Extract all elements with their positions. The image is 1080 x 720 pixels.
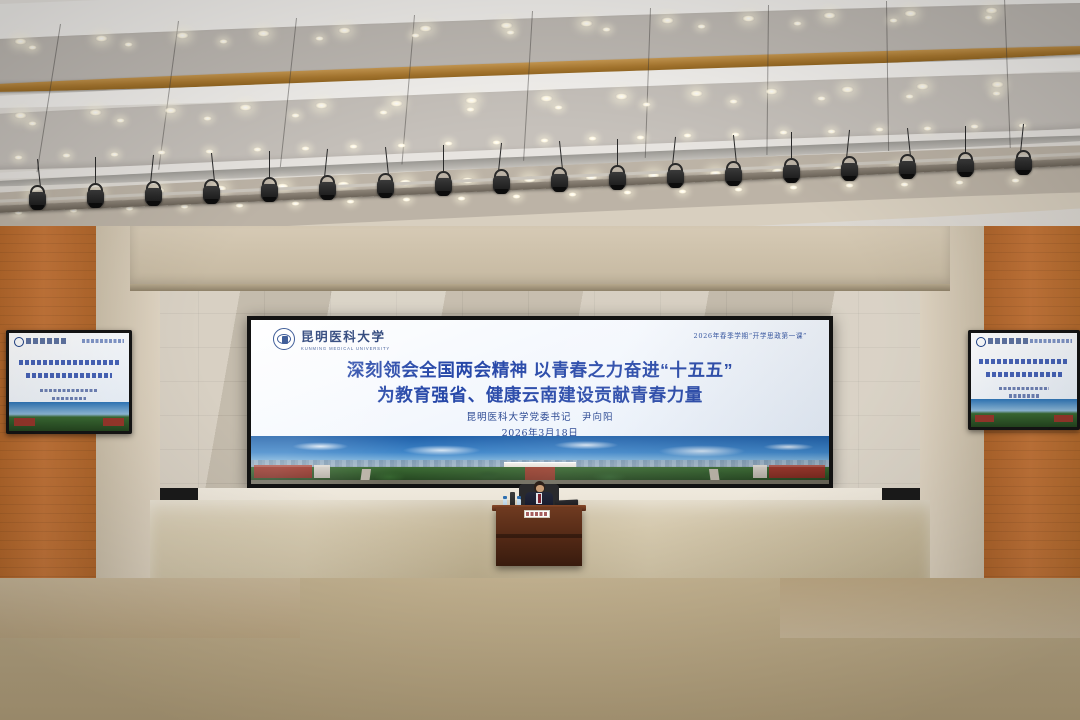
stage-spotlight [86, 183, 105, 209]
university-name-text [988, 338, 1028, 344]
ceiling-downlight [568, 192, 577, 197]
ceiling-downlight [900, 182, 909, 187]
ceiling-downlight [124, 42, 133, 47]
ceiling-downlight [827, 129, 836, 134]
stage-spotlight [318, 175, 337, 201]
stage-spotlight [782, 158, 801, 184]
university-logo: 昆明医科大学 KUNMING MEDICAL UNIVERSITY [273, 326, 390, 351]
spotlight-lens [147, 201, 160, 206]
title-line-1-text [19, 360, 120, 365]
slide-corner-label: 2026年春季学期“开学思政第一课” [694, 330, 807, 340]
university-name-en: KUNMING MEDICAL UNIVERSITY [301, 346, 390, 351]
ceiling-downlight [540, 138, 549, 143]
campus-building-right [769, 465, 825, 478]
speaker-face [536, 485, 544, 492]
corner-label-text [1030, 339, 1072, 343]
side-monitor-right[interactable] [968, 330, 1080, 430]
side-monitor-left-content [9, 333, 129, 431]
stage-spotlight [898, 154, 917, 180]
ceiling-downlight [379, 110, 388, 115]
slide-title-line-2: 为教育强省、健康云南建设贡献青春力量 [251, 383, 829, 408]
campus-panorama [971, 399, 1077, 427]
proscenium-lip [130, 284, 950, 291]
title-line-2-text [986, 372, 1062, 377]
ceiling-downlight [602, 27, 611, 32]
ceiling-downlight [14, 38, 27, 45]
ceiling-downlight [164, 107, 177, 114]
campus-building-left-2 [314, 465, 330, 478]
spotlight-cable [269, 151, 270, 179]
campus-building [975, 415, 994, 422]
ceiling-downlight [419, 25, 432, 32]
ceiling-downlight [554, 105, 563, 110]
ceiling-downlight [411, 33, 420, 38]
spotlight-lens [89, 203, 102, 208]
ceiling-downlight [291, 201, 300, 206]
stage-spotlight [202, 179, 221, 205]
ceiling-downlight [14, 112, 27, 119]
stage-spotlight [956, 152, 975, 178]
ceiling-downlight [841, 86, 854, 93]
lecture-table-trim [496, 534, 582, 538]
ceiling-downlight [203, 116, 212, 121]
spotlight-lens [321, 195, 334, 200]
stage-spotlight [724, 161, 743, 187]
stage-spotlight [666, 163, 685, 189]
ceiling-downlight [110, 152, 119, 157]
auditorium-photo: 昆明医科大学 KUNMING MEDICAL UNIVERSITY 2026年春… [0, 0, 1080, 720]
side-monitor-right-content [971, 333, 1077, 427]
speaker-nameplate-text [526, 512, 548, 516]
spotlight-lens [611, 185, 624, 190]
stage-spotlight [492, 169, 511, 195]
university-crest-icon [976, 337, 986, 347]
spotlight-cable [617, 139, 618, 167]
ceiling-downlight [257, 30, 270, 37]
spotlight-lens [31, 205, 44, 210]
side-monitor-left[interactable] [6, 330, 132, 434]
campus-building-right-2 [753, 465, 767, 478]
ceiling-downlight [905, 94, 914, 99]
slide-title: 深刻领会全国两会精神 以青春之力奋进“十五五” 为教育强省、健康云南建设贡献青春… [251, 358, 829, 409]
ceiling-downlight [349, 144, 358, 149]
ceiling-downlight [315, 36, 324, 41]
ceiling-downlight [734, 187, 743, 192]
stage-spotlight [1014, 150, 1033, 176]
spotlight-lens [553, 187, 566, 192]
university-crest-icon [273, 328, 295, 350]
spotlight-lens [727, 181, 740, 186]
date-line-text [52, 397, 86, 401]
ceiling-downlight [916, 83, 929, 90]
ceiling-downlight [540, 95, 553, 102]
spotlight-lens [785, 178, 798, 183]
spotlight-lens [843, 176, 856, 181]
campus-building-left [254, 465, 312, 478]
spotlight-lens [1017, 170, 1030, 175]
ceiling-downlight [742, 15, 755, 22]
campus-building [103, 418, 125, 426]
ceiling-downlight [95, 35, 108, 42]
ceiling-downlight [291, 113, 300, 118]
ceiling-downlight [991, 81, 1004, 88]
ceiling-downlight [992, 91, 1001, 96]
speaker-line-text [40, 389, 98, 393]
ceiling-downlight [205, 149, 214, 154]
campus-building [1054, 415, 1073, 422]
ceiling-downlight [985, 7, 998, 14]
stage-spotlight [144, 181, 163, 207]
ceiling-downlight [315, 102, 328, 109]
date-line-text [1009, 394, 1039, 398]
university-name-cn: 昆明医科大学 [301, 326, 390, 345]
spotlight-lens [669, 183, 682, 188]
ceiling-downlight [923, 126, 932, 131]
ceiling-downlight [301, 146, 310, 151]
ceiling-downlight [889, 18, 898, 23]
spotlight-lens [437, 191, 450, 196]
spotlight-lens [205, 199, 218, 204]
ceiling-downlight [390, 100, 403, 107]
slide-speaker-line: 昆明医科大学党委书记 尹向阳 [251, 410, 829, 426]
spotlight-lens [959, 172, 972, 177]
ceiling-downlight [904, 10, 917, 17]
stage-spotlight [550, 167, 569, 193]
corner-label-text [82, 339, 124, 343]
ceiling-downlight [580, 20, 593, 27]
stage-spotlight [28, 185, 47, 211]
ceiling-downlight [636, 135, 645, 140]
spotlight-cable [443, 145, 444, 173]
campus-panorama [9, 402, 129, 431]
slide-header: 昆明医科大学 KUNMING MEDICAL UNIVERSITY 2026年春… [251, 320, 829, 350]
main-presentation-screen[interactable]: 昆明医科大学 KUNMING MEDICAL UNIVERSITY 2026年春… [247, 316, 833, 488]
ceiling-downlight [642, 102, 651, 107]
campus-panorama [251, 436, 829, 484]
ceiling-downlight [235, 203, 244, 208]
spotlight-lens [901, 174, 914, 179]
ceiling [0, 0, 1080, 232]
ceiling-downlight [14, 155, 23, 160]
spotlight-lens [379, 193, 392, 198]
spotlight-cable [965, 126, 966, 154]
university-name-text [26, 338, 66, 344]
stage-spotlight [434, 171, 453, 197]
ceiling-downlight [62, 153, 71, 158]
proscenium-soffit [130, 226, 950, 288]
ceiling-downlight [678, 189, 687, 194]
slide: 昆明医科大学 KUNMING MEDICAL UNIVERSITY 2026年春… [251, 320, 829, 484]
stage-spotlight [376, 173, 395, 199]
ceiling-downlight [500, 22, 513, 29]
slide-title-line-1: 深刻领会全国两会精神 以青春之力奋进“十五五” [251, 358, 829, 383]
spotlight-lens [263, 197, 276, 202]
stage-spotlight [260, 177, 279, 203]
spotlight-cable [95, 157, 96, 185]
speaker-tie [538, 494, 541, 503]
stage-spotlight [608, 165, 627, 191]
ceiling-downlight [615, 93, 628, 100]
house-wall-right [780, 578, 1080, 638]
ceiling-downlight [1011, 178, 1020, 183]
campus-building [14, 418, 36, 426]
house-wall-left [0, 578, 300, 638]
stage-spotlight [840, 156, 859, 182]
university-crest-icon [14, 337, 24, 347]
title-line-1-text [979, 359, 1068, 364]
ceiling-downlight [397, 143, 406, 148]
clouds [251, 436, 829, 462]
spotlight-lens [495, 189, 508, 194]
ceiling-downlight [457, 196, 466, 201]
speaker-line-text [999, 387, 1050, 391]
spotlight-cable [791, 132, 792, 160]
title-line-2-text [26, 373, 112, 378]
audience-seating [0, 578, 1080, 720]
